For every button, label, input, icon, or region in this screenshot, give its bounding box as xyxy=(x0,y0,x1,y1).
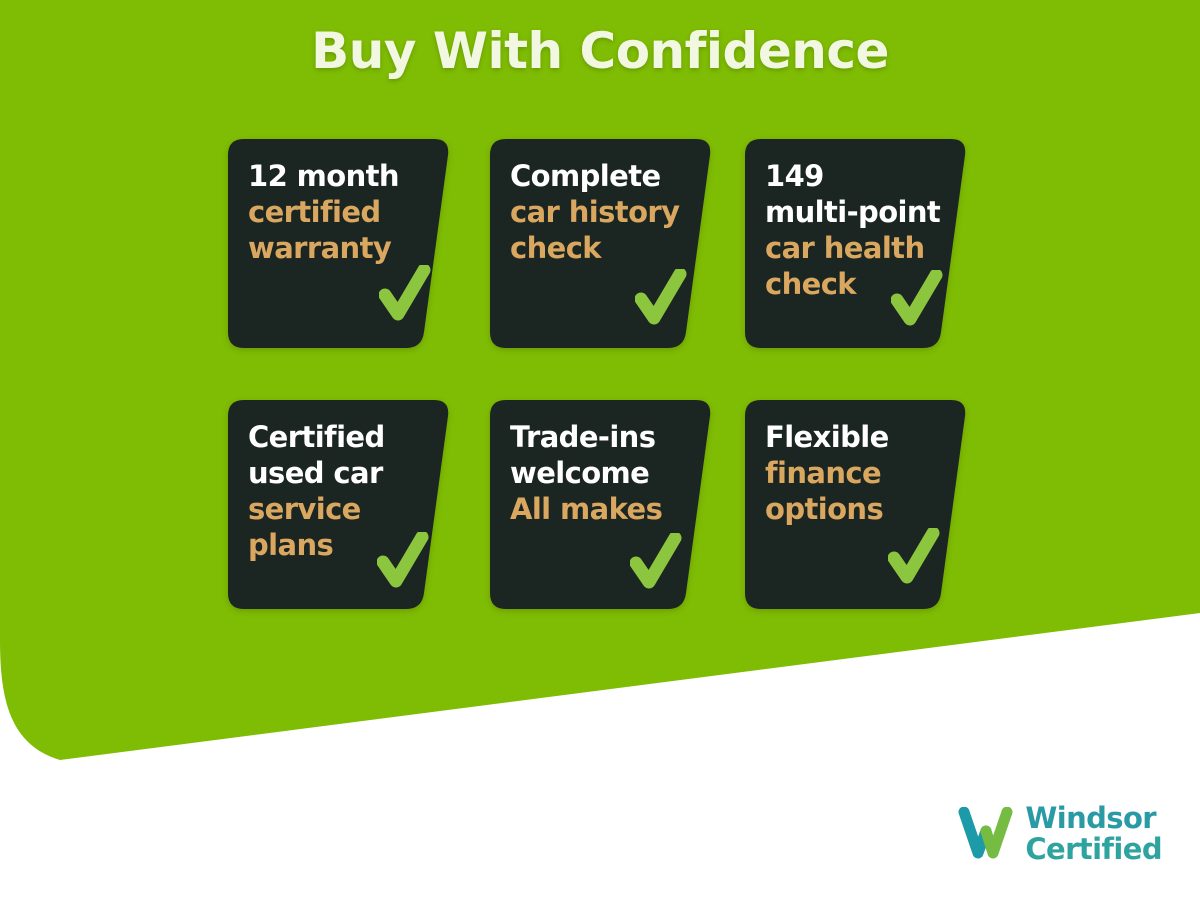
card-line: check xyxy=(510,231,696,267)
card-certified-used-car-service-plans[interactable]: Certified used car service plans xyxy=(228,400,456,609)
windsor-w-icon xyxy=(957,807,1015,861)
card-line: Certified xyxy=(248,420,434,456)
card-line: Trade-ins xyxy=(510,420,696,456)
check-icon xyxy=(635,269,689,331)
card-line: certified xyxy=(248,195,434,231)
card-line: options xyxy=(765,492,951,528)
card-line: used car xyxy=(248,456,434,492)
brand-logo-text: Windsor Certified xyxy=(1025,803,1162,864)
brand-line-certified: Certified xyxy=(1025,834,1162,864)
card-text: Trade-ins welcome All makes xyxy=(510,420,696,528)
card-line: 12 month xyxy=(248,159,434,195)
check-icon xyxy=(377,532,431,594)
card-line: car history xyxy=(510,195,696,231)
brand-line-windsor: Windsor xyxy=(1025,803,1162,833)
benefits-grid: 12 month certified warranty Complete car… xyxy=(228,139,973,610)
card-complete-car-history-check[interactable]: Complete car history check xyxy=(490,139,718,348)
card-line: Flexible xyxy=(765,420,951,456)
check-icon xyxy=(888,528,942,590)
card-line: multi-point xyxy=(765,195,951,231)
benefits-row-2: Certified used car service plans Trade-i… xyxy=(228,400,973,610)
card-trade-ins-welcome-all-makes[interactable]: Trade-ins welcome All makes xyxy=(490,400,718,609)
page-title: Buy With Confidence xyxy=(0,22,1200,80)
card-flexible-finance-options[interactable]: Flexible finance options xyxy=(745,400,973,609)
check-icon xyxy=(630,533,684,595)
card-text: 12 month certified warranty xyxy=(248,159,434,267)
card-line: 149 xyxy=(765,159,951,195)
card-line: warranty xyxy=(248,231,434,267)
benefits-row-1: 12 month certified warranty Complete car… xyxy=(228,139,973,349)
card-line: All makes xyxy=(510,492,696,528)
card-line: finance xyxy=(765,456,951,492)
card-line: Complete xyxy=(510,159,696,195)
card-line: service xyxy=(248,492,434,528)
check-icon xyxy=(379,265,433,327)
card-line: welcome xyxy=(510,456,696,492)
card-text: Complete car history check xyxy=(510,159,696,267)
card-12-month-certified-warranty[interactable]: 12 month certified warranty xyxy=(228,139,456,348)
check-icon xyxy=(891,270,945,332)
card-line: car health xyxy=(765,231,951,267)
card-149-multi-point-car-health-check[interactable]: 149 multi-point car health check xyxy=(745,139,973,348)
brand-logo[interactable]: Windsor Certified xyxy=(957,803,1162,864)
card-text: Flexible finance options xyxy=(765,420,951,528)
poster-canvas: Buy With Confidence 12 month certified w… xyxy=(0,0,1200,900)
